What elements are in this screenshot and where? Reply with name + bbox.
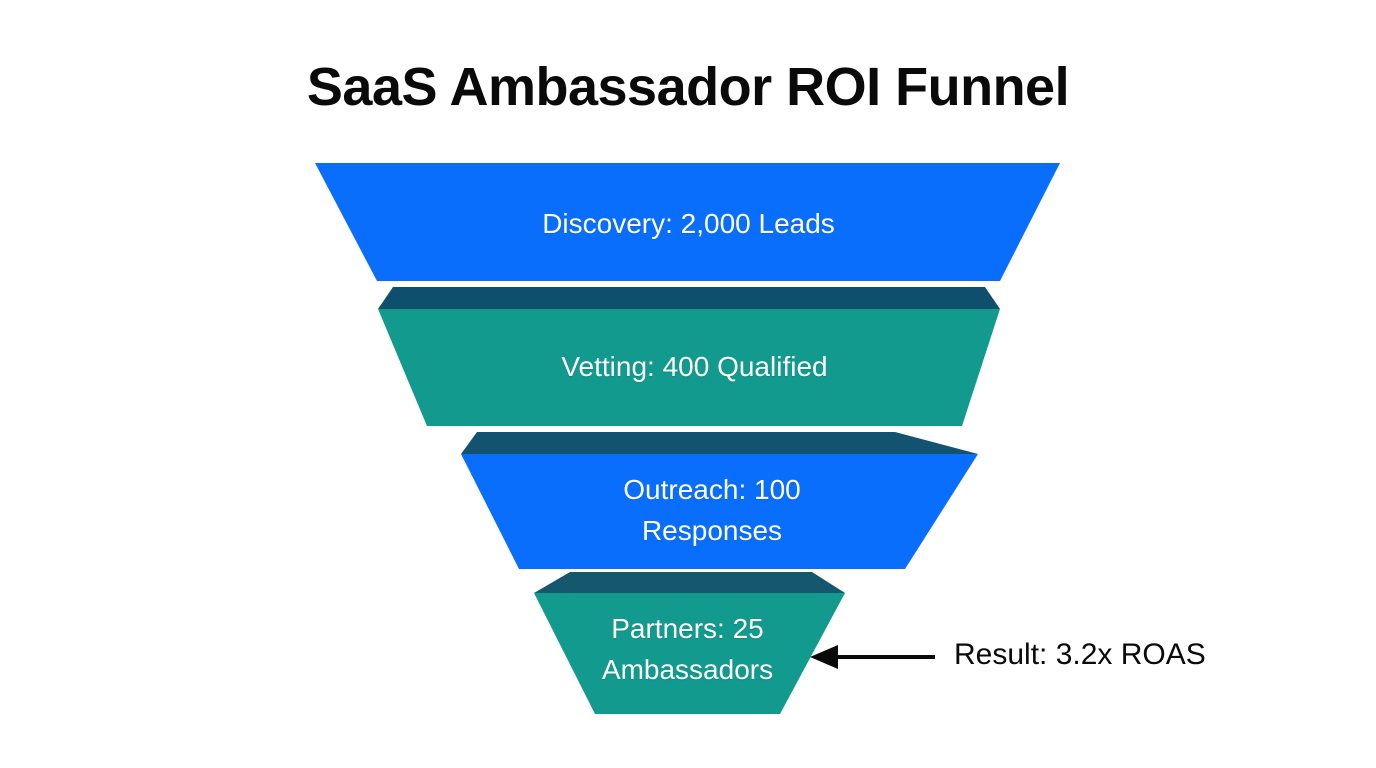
annotation-label-result: Result: 3.2x ROAS — [954, 640, 1206, 670]
funnel-segment-outreach-bevel — [461, 432, 978, 454]
funnel-segment-vetting-bevel — [378, 287, 1000, 309]
funnel-segment-label-partners: Partners: 25 Ambassadors — [560, 608, 815, 690]
funnel-segment-partners-bevel — [534, 572, 845, 593]
funnel-segment-label-outreach: Outreach: 100 Responses — [519, 469, 905, 551]
funnel-segment-label-discovery: Discovery: 2,000 Leads — [377, 203, 1000, 244]
funnel-segment-label-vetting: Vetting: 400 Qualified — [427, 346, 962, 387]
chart-canvas: SaaS Ambassador ROI Funnel Discovery: 2,… — [0, 0, 1376, 768]
annotation-arrow-icon — [810, 645, 935, 669]
